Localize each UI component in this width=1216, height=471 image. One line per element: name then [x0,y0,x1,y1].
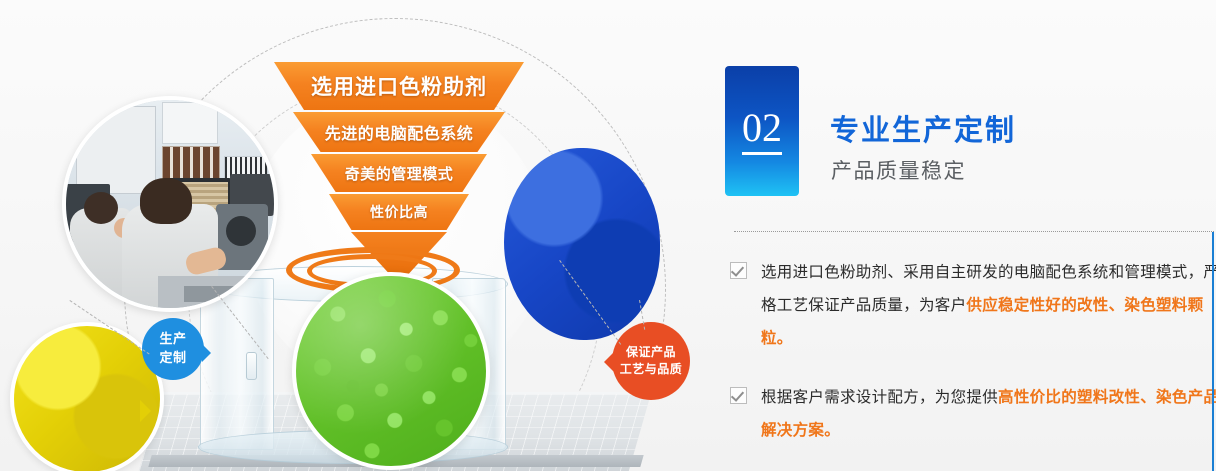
page-subtitle: 产品质量稳定 [831,155,966,185]
checkbox-checked-icon [730,262,747,279]
feature-bullet-2: 根据客户需求设计配方，为您提供高性价比的塑料改性、染色产品解决方案。 [730,381,1216,447]
feature-bullet-1: 选用进口色粉助剂、采用自主研发的电脑配色系统和管理模式，严格工艺保证产品质量，为… [730,256,1216,355]
page-edge-line [1212,232,1214,471]
promo-banner: 选用进口色粉助剂 先进的电脑配色系统 奇美的管理模式 性价比高 [0,0,1216,471]
process-funnel: 选用进口色粉助剂 先进的电脑配色系统 奇美的管理模式 性价比高 [254,62,544,272]
section-number: 02 [742,108,782,155]
yellow-pigment-powder [10,322,164,471]
feature-bullet-1-text: 选用进口色粉助剂、采用自主研发的电脑配色系统和管理模式，严格工艺保证产品质量，为… [761,256,1216,355]
badge-line-1: 生产 [159,330,186,349]
blue-pigment-powder [504,148,660,340]
badge-line-2: 定制 [159,349,186,368]
green-plastic-pellets [292,272,490,470]
bullet-plain-text: 根据客户需求设计配方，为您提供 [761,389,998,406]
funnel-tier-2: 先进的电脑配色系统 [293,112,505,152]
dotted-divider [734,231,1214,232]
production-custom-badge: 生产 定制 [142,318,204,380]
page-title: 专业生产定制 [830,107,1016,149]
product-illustration: 选用进口色粉助剂 先进的电脑配色系统 奇美的管理模式 性价比高 [0,0,716,471]
funnel-tier-1: 选用进口色粉助剂 [274,62,524,110]
checkbox-checked-icon [730,387,747,404]
quality-guarantee-badge: 保证产品 工艺与品质 [612,322,690,400]
content-panel: 02 专业生产定制 产品质量稳定 选用进口色粉助剂、采用自主研发的电脑配色系统和… [716,0,1216,471]
funnel-tier-3: 奇美的管理模式 [311,154,487,192]
section-number-badge: 02 [725,66,799,196]
badge-line-1: 保证产品 [626,344,676,361]
badge-line-2: 工艺与品质 [620,361,683,378]
funnel-tier-4: 性价比高 [329,194,469,230]
drum-handle-left [246,352,257,380]
yellow-circle-tail [140,400,151,422]
feature-bullet-2-text: 根据客户需求设计配方，为您提供高性价比的塑料改性、染色产品解决方案。 [761,381,1216,447]
lab-technicians-photo [62,96,278,312]
